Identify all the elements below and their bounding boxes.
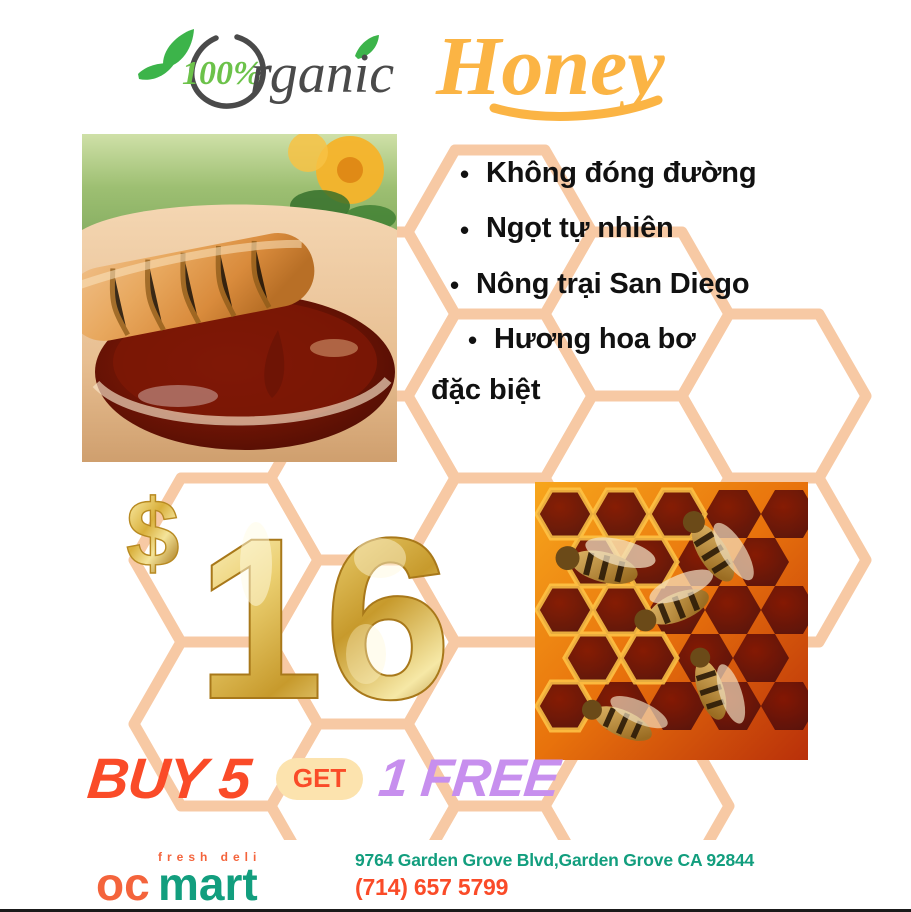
feature-list: •Không đóng đường •Ngọt tự nhiên •Nông t… (432, 146, 902, 413)
price-amount: 16 (196, 490, 452, 722)
price-display: $ 16 (104, 472, 484, 722)
feature-label: Ngọt tự nhiên (486, 212, 674, 244)
store-phone[interactable]: (714) 657 5799 (355, 872, 754, 902)
bullet-icon: • (460, 203, 486, 257)
honey-title-label: Honey (435, 20, 665, 113)
feature-item: •Không đóng đường (432, 146, 902, 201)
honey-title: Honey (432, 10, 722, 122)
store-contact-info: 9764 Garden Grove Blvd,Garden Grove CA 9… (355, 848, 754, 902)
price-currency-symbol: $ (126, 480, 179, 587)
get-badge: GET (276, 758, 363, 800)
feature-item: •Nông trại San Diego (432, 257, 902, 312)
promo-offer: BUY 5 GET 1 FREE (88, 748, 648, 810)
feature-label: Không đóng đường (486, 157, 756, 189)
organic-word-label: rganic (250, 43, 394, 105)
svg-text:$: $ (126, 480, 179, 587)
flyer-header: 100% rganic Honey (0, 8, 911, 120)
bullet-icon: • (468, 313, 494, 367)
feature-item: •Ngọt tự nhiên (432, 201, 902, 256)
bees-honeycomb-photo (535, 482, 808, 760)
brand-name-part2: mart (158, 858, 258, 906)
feature-label: Hương hoa bơ (494, 323, 696, 355)
honey-promo-flyer: 100% rganic Honey (0, 0, 911, 912)
organic-badge: 100% rganic (130, 22, 430, 112)
flyer-footer: fresh deli oc mart 9764 Garden Grove Blv… (0, 840, 911, 912)
bullet-icon: • (460, 147, 486, 201)
oc-mart-logo: fresh deli oc mart (96, 844, 341, 906)
store-address: 9764 Garden Grove Blvd,Garden Grove CA 9… (355, 848, 754, 872)
brand-name-part1: oc (96, 858, 150, 906)
buy-label: BUY 5 (85, 748, 253, 810)
feature-label: Nông trại San Diego (476, 268, 749, 300)
bullet-icon: • (450, 258, 476, 312)
feature-item: •Hương hoa bơ (432, 312, 902, 367)
svg-text:16: 16 (196, 490, 452, 722)
free-label: 1 FREE (376, 749, 562, 809)
honey-dipper-photo (82, 134, 397, 462)
feature-label-continuation: đặc biệt (431, 367, 902, 413)
